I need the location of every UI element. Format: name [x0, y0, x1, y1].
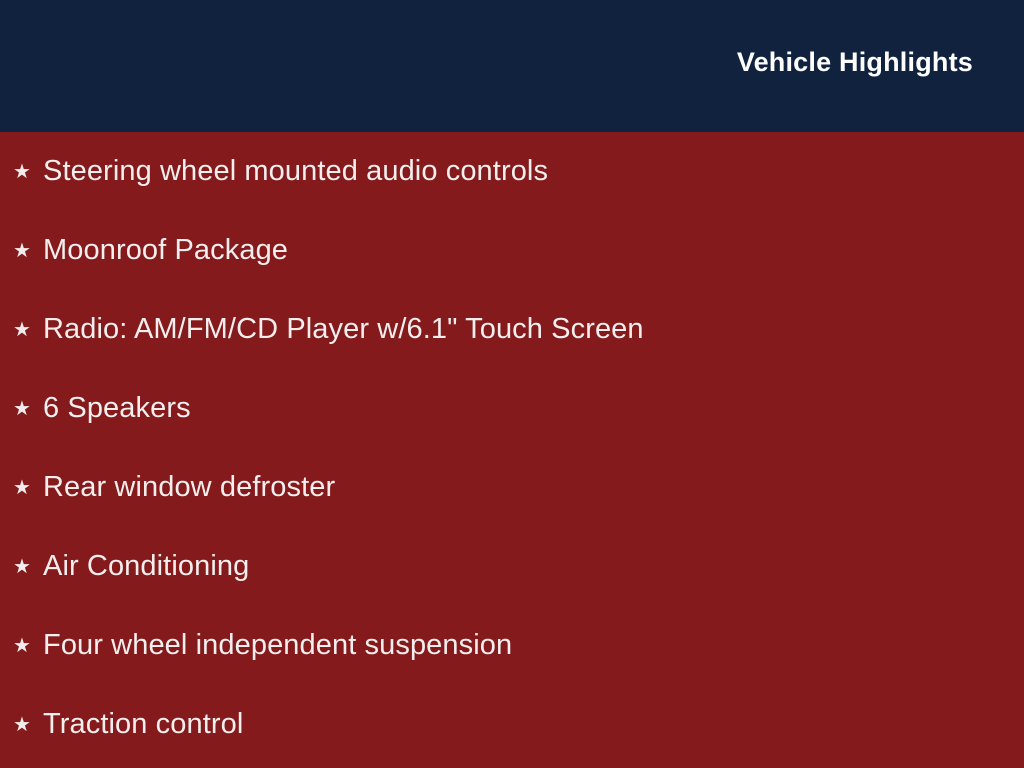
- list-item: ★ Radio: AM/FM/CD Player w/6.1" Touch Sc…: [0, 290, 1024, 369]
- page-title: Vehicle Highlights: [737, 46, 973, 78]
- list-item-label: Air Conditioning: [43, 550, 249, 583]
- list-item: ★ Four wheel independent suspension: [0, 606, 1024, 685]
- list-item-label: 6 Speakers: [43, 392, 191, 425]
- list-item: ★ Air Conditioning: [0, 527, 1024, 606]
- highlights-body: ★ Steering wheel mounted audio controls …: [0, 132, 1024, 768]
- list-item-label: Radio: AM/FM/CD Player w/6.1" Touch Scre…: [43, 313, 644, 346]
- star-bullet-icon: ★: [13, 157, 31, 187]
- list-item-label: Steering wheel mounted audio controls: [43, 155, 548, 188]
- vehicle-highlights-list: ★ Steering wheel mounted audio controls …: [0, 132, 1024, 764]
- list-item: ★ Steering wheel mounted audio controls: [0, 132, 1024, 211]
- list-item-label: Traction control: [43, 708, 243, 741]
- star-bullet-icon: ★: [13, 631, 31, 661]
- list-item: ★ Moonroof Package: [0, 211, 1024, 290]
- star-bullet-icon: ★: [13, 394, 31, 424]
- header-bar: Vehicle Highlights: [0, 0, 1024, 132]
- star-bullet-icon: ★: [13, 710, 31, 740]
- list-item: ★ Traction control: [0, 685, 1024, 764]
- vehicle-highlights-slide: Vehicle Highlights ★ Steering wheel moun…: [0, 0, 1024, 768]
- list-item-label: Moonroof Package: [43, 234, 288, 267]
- list-item: ★ Rear window defroster: [0, 448, 1024, 527]
- star-bullet-icon: ★: [13, 473, 31, 503]
- list-item: ★ 6 Speakers: [0, 369, 1024, 448]
- star-bullet-icon: ★: [13, 552, 31, 582]
- star-bullet-icon: ★: [13, 315, 31, 345]
- list-item-label: Four wheel independent suspension: [43, 629, 512, 662]
- star-bullet-icon: ★: [13, 236, 31, 266]
- list-item-label: Rear window defroster: [43, 471, 335, 504]
